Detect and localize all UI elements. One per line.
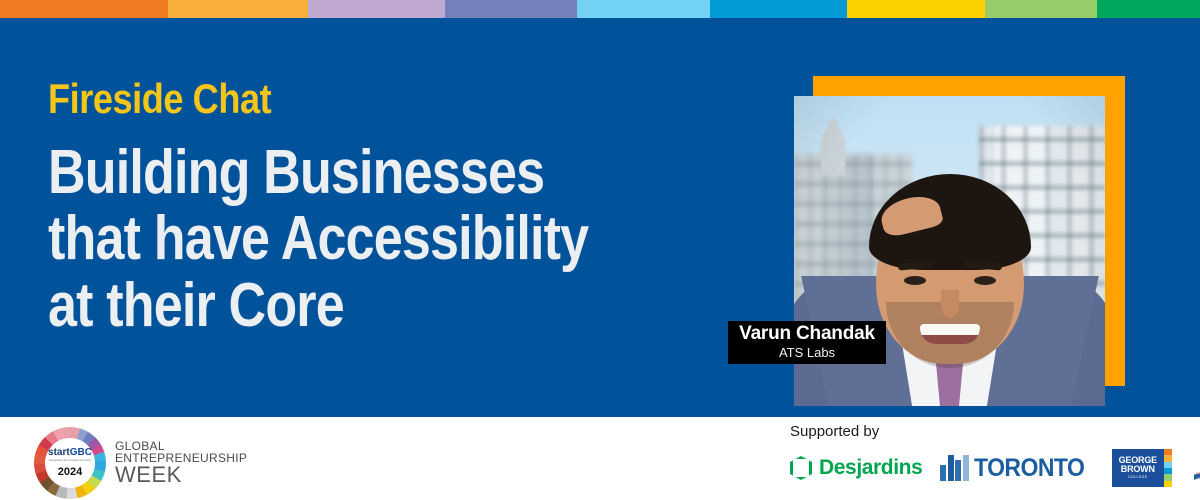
- stripe-segment-5: [577, 0, 710, 18]
- sa-subtext: STUDENT ASSOCIATIONOF GEORGE BROWN COLLE…: [1190, 472, 1200, 485]
- stripe-segment-7: [847, 0, 985, 18]
- supporter-logo-desjardins: Desjardins: [790, 456, 922, 480]
- page-title: Building Businesses that have Accessibil…: [48, 140, 661, 339]
- session-type-label: Fireside Chat: [48, 78, 271, 120]
- george-brown-line-3: COLLEGE: [1128, 476, 1147, 480]
- speaker-name: Varun Chandak: [739, 324, 875, 344]
- hero-panel: Fireside Chat Building Businesses that h…: [0, 18, 1200, 417]
- stripe-segment-3: [308, 0, 445, 18]
- george-brown-line-2: BROWN: [1121, 465, 1155, 474]
- stripe-segment-6: [710, 0, 847, 18]
- buildings-icon: [940, 455, 969, 481]
- supporter-logo-row: Desjardins TORONTO GEORGE BROWN COLLEGE …: [790, 447, 1200, 489]
- supporters-section: Supported by Desjardins TORONTO GEORGE B…: [790, 423, 1200, 489]
- toronto-wordmark: TORONTO: [974, 454, 1084, 483]
- headline-line-1: Building Businesses: [48, 140, 661, 206]
- headline-line-2: that have Accessibility: [48, 206, 661, 272]
- speaker-organization: ATS Labs: [779, 345, 835, 361]
- stripe-segment-9: [1097, 0, 1200, 18]
- gew-wordmark: GLOBAL ENTREPRENEURSHIP WEEK: [115, 440, 247, 486]
- event-banner: Fireside Chat Building Businesses that h…: [0, 0, 1200, 500]
- startgbc-tagline: Navigating the entrepreneurship: [49, 459, 92, 462]
- supporter-logo-george-brown: GEORGE BROWN COLLEGE: [1112, 449, 1172, 487]
- speaker-nameplate: Varun Chandak ATS Labs: [728, 321, 886, 364]
- gew-logo: startGBC Navigating the entrepreneurship…: [34, 427, 247, 499]
- george-brown-badge: GEORGE BROWN COLLEGE: [1112, 449, 1164, 487]
- gew-line-3: WEEK: [115, 464, 247, 486]
- gbc-bar-6: [1164, 481, 1172, 487]
- startgbc-wordmark: startGBC: [48, 448, 92, 458]
- gew-wheel-icon: startGBC Navigating the entrepreneurship…: [34, 427, 106, 499]
- supporter-logo-toronto: TORONTO: [940, 454, 1093, 483]
- top-color-stripe: [0, 0, 1200, 18]
- george-brown-color-bars: [1164, 449, 1172, 487]
- desjardins-wordmark: Desjardins: [819, 456, 922, 480]
- hexagon-icon: [790, 456, 812, 480]
- stripe-segment-4: [445, 0, 577, 18]
- supporter-logo-student-association: SA STUDENT ASSOCIATIONOF GEORGE BROWN CO…: [1190, 449, 1200, 487]
- gew-year: 2024: [58, 467, 82, 478]
- stripe-segment-2: [168, 0, 308, 18]
- gew-wheel-center: startGBC Navigating the entrepreneurship…: [45, 438, 95, 488]
- footer-bar: startGBC Navigating the entrepreneurship…: [0, 417, 1200, 500]
- stripe-segment-8: [985, 0, 1097, 18]
- portrait-eye-left: [904, 276, 926, 285]
- portrait-nose: [941, 290, 959, 318]
- portrait-mouth: [920, 324, 980, 344]
- headline-line-3: at their Core: [48, 273, 661, 339]
- stripe-segment-1: [0, 0, 168, 18]
- supported-by-label: Supported by: [790, 423, 1200, 440]
- portrait-eye-right: [974, 276, 996, 285]
